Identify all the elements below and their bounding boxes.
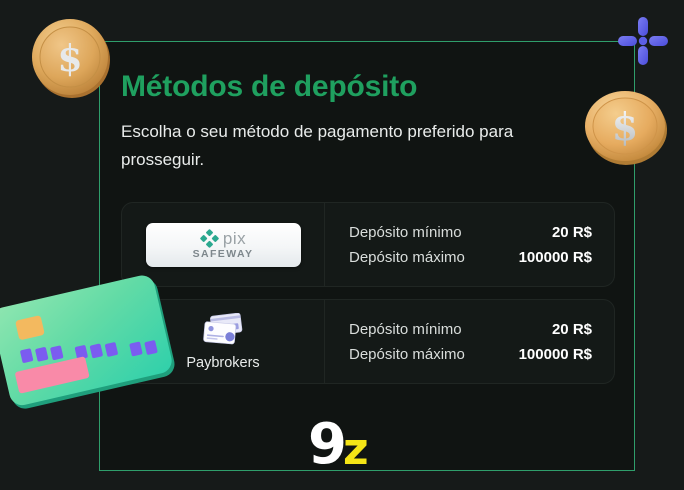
svg-text:$: $ (612, 104, 638, 149)
gold-coin-icon-right: $ (583, 88, 668, 165)
max-deposit-value: 100000 R$ (519, 245, 592, 270)
purple-plus-ornament-icon (617, 16, 669, 66)
pix-diamond-icon (200, 229, 219, 248)
payment-method-option-pix[interactable]: pix SAFEWAY Depósito mínimo 20 R$ Depósi… (121, 202, 615, 287)
max-deposit-label: Depósito máximo (349, 342, 465, 367)
detail-row-max: Depósito máximo 100000 R$ (349, 245, 592, 270)
credit-card-illustration-icon (0, 272, 176, 412)
screen-root: Métodos de depósito Escolha o seu método… (0, 0, 684, 490)
page-subtitle: Escolha o seu método de pagamento prefer… (121, 118, 591, 174)
detail-row-max: Depósito máximo 100000 R$ (349, 342, 592, 367)
pix-logo-tile: pix SAFEWAY (146, 223, 301, 267)
min-deposit-value: 20 R$ (552, 220, 592, 245)
pix-wordmark-text: pix (223, 231, 246, 246)
min-deposit-label: Depósito mínimo (349, 220, 462, 245)
page-title: Métodos de depósito (121, 70, 417, 104)
min-deposit-value: 20 R$ (552, 317, 592, 342)
detail-row-min: Depósito mínimo 20 R$ (349, 317, 592, 342)
pix-deposit-limits: Depósito mínimo 20 R$ Depósito máximo 10… (325, 220, 614, 270)
max-deposit-label: Depósito máximo (349, 245, 465, 270)
svg-text:$: $ (57, 38, 82, 80)
payment-methods-list: pix SAFEWAY Depósito mínimo 20 R$ Depósi… (121, 202, 615, 396)
min-deposit-label: Depósito mínimo (349, 317, 462, 342)
gold-coin-icon-left: $ (31, 17, 111, 99)
payment-method-option-paybrokers[interactable]: Paybrokers Depósito mínimo 20 R$ Depósit… (121, 299, 615, 384)
deposit-methods-panel: Métodos de depósito Escolha o seu método… (99, 41, 635, 471)
card-stack-icon (199, 313, 247, 349)
pix-partner-name: SAFEWAY (193, 249, 254, 260)
paybrokers-name: Paybrokers (186, 355, 259, 371)
paybrokers-deposit-limits: Depósito mínimo 20 R$ Depósito máximo 10… (325, 317, 614, 367)
brand-letter: z (343, 428, 368, 472)
pix-wordmark-row: pix (200, 229, 246, 248)
brand-logo-9z: 9 z (308, 417, 368, 473)
detail-row-min: Depósito mínimo 20 R$ (349, 220, 592, 245)
max-deposit-value: 100000 R$ (519, 342, 592, 367)
brand-digit: 9 (308, 417, 345, 473)
